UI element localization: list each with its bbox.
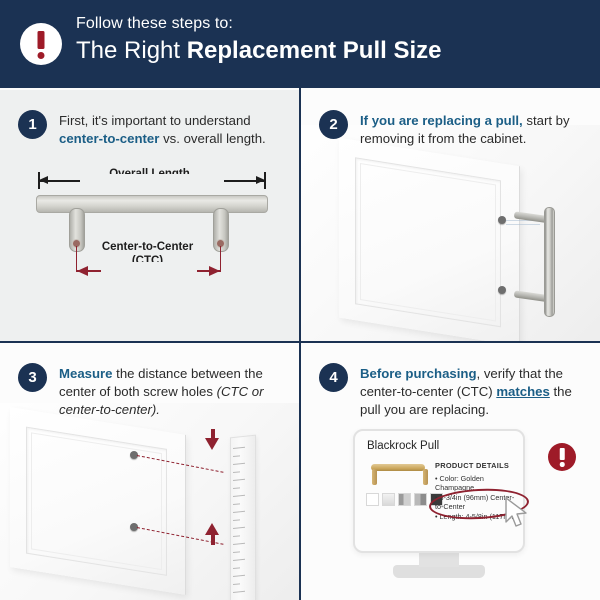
measure-arrow-up-icon <box>205 523 219 535</box>
step-1-header: 1 First, it's important to understand ce… <box>18 110 277 148</box>
motion-line-2 <box>506 224 540 225</box>
pull-measurement-diagram: Overall Length Center-to-Center (CTC) <box>0 168 299 341</box>
cabinet-door-3 <box>10 407 186 595</box>
overall-length-arrow-left <box>39 176 48 184</box>
step-3-header: 3 Measure the distance between the cente… <box>18 363 277 419</box>
screw-hole-bottom-2 <box>498 286 506 294</box>
step-1-highlight-a: First, it's important to understand <box>59 113 251 128</box>
step-4-highlight: Before purchasing <box>360 366 477 381</box>
product-thumbnail-1[interactable] <box>366 493 379 506</box>
step-panel-1: 1 First, it's important to understand ce… <box>0 90 299 341</box>
overall-length-dimension-line <box>38 180 266 182</box>
ctc-dimension-line <box>77 270 220 272</box>
product-image <box>367 460 429 488</box>
step-4-matches-link[interactable]: matches <box>496 384 550 399</box>
ctc-label-line1: Center-to-Center <box>60 240 235 254</box>
step-2-header: 2 If you are replacing a pull, start by … <box>319 110 578 148</box>
alert-badge-dot <box>560 462 565 467</box>
header-banner: Follow these steps to: The Right Replace… <box>0 0 600 88</box>
ruler-icon <box>230 435 256 600</box>
overall-length-arrow-right <box>256 176 265 184</box>
step-4-text: Before purchasing, verify that the cente… <box>360 363 578 419</box>
overall-length-line-mask <box>80 174 224 188</box>
header-kicker: Follow these steps to: <box>76 14 441 34</box>
step-panel-4: 4 Before purchasing, verify that the cen… <box>301 343 600 600</box>
product-details-heading: PRODUCT DETAILS <box>435 461 509 470</box>
measure-arrow-down-icon <box>205 438 219 450</box>
ctc-line-mask <box>101 262 197 277</box>
product-thumbnail-3[interactable] <box>398 493 411 506</box>
step-number-badge-1: 1 <box>18 110 47 139</box>
screw-hole-top-2 <box>498 216 506 224</box>
headline-light: The Right <box>76 37 187 64</box>
product-pull-leg-left <box>372 469 377 485</box>
alert-exclamation-badge-icon <box>548 443 576 471</box>
step-number-badge-3: 3 <box>18 363 47 392</box>
step-panel-3: 3 Measure the distance between the cente… <box>0 343 299 600</box>
product-pull-bar <box>371 464 425 471</box>
ctc-arrow-left <box>77 266 88 276</box>
cabinet-door-inset-inner-2 <box>360 163 496 322</box>
product-title: Blackrock Pull <box>367 440 439 452</box>
step-3-text: Measure the distance between the center … <box>59 363 277 419</box>
product-thumbnail-2[interactable] <box>382 493 395 506</box>
step-number-badge-2: 2 <box>319 110 348 139</box>
header-text-block: Follow these steps to: The Right Replace… <box>76 14 441 66</box>
step-2-highlight: If you are replacing a pull, <box>360 113 523 128</box>
cabinet-door-inset-inner-3 <box>31 432 162 570</box>
ctc-arrow-right <box>209 266 220 276</box>
step-4-header: 4 Before purchasing, verify that the cen… <box>319 363 578 419</box>
step-1-tail: vs. overall length. <box>159 131 265 146</box>
alert-exclamation-icon <box>20 23 62 65</box>
step-2-text: If you are replacing a pull, start by re… <box>360 110 578 148</box>
exclamation-stem <box>38 31 45 49</box>
infographic-root: Follow these steps to: The Right Replace… <box>0 0 600 600</box>
monitor-screen: Blackrock Pull PRODUCT DETAILS • Color: … <box>353 429 525 553</box>
step-1-highlight-b: center-to-center <box>59 131 159 146</box>
product-pull-leg-right <box>423 469 428 485</box>
alert-badge-stem <box>560 448 565 460</box>
step-panel-2: 2 If you are replacing a pull, start by … <box>301 90 600 341</box>
cabinet-door-2 <box>339 138 520 341</box>
step-1-text: First, it's important to understand cent… <box>59 110 277 148</box>
product-thumbnail-4[interactable] <box>414 493 427 506</box>
measure-arrow-bottom-stem <box>211 535 215 545</box>
headline-bold: Replacement Pull Size <box>187 37 442 64</box>
cabinet-pull-handle-2 <box>544 207 555 317</box>
page-title: The Right Replacement Pull Size <box>76 36 441 66</box>
exclamation-dot <box>38 52 45 59</box>
step-3-highlight: Measure <box>59 366 113 381</box>
step-number-badge-4: 4 <box>319 363 348 392</box>
